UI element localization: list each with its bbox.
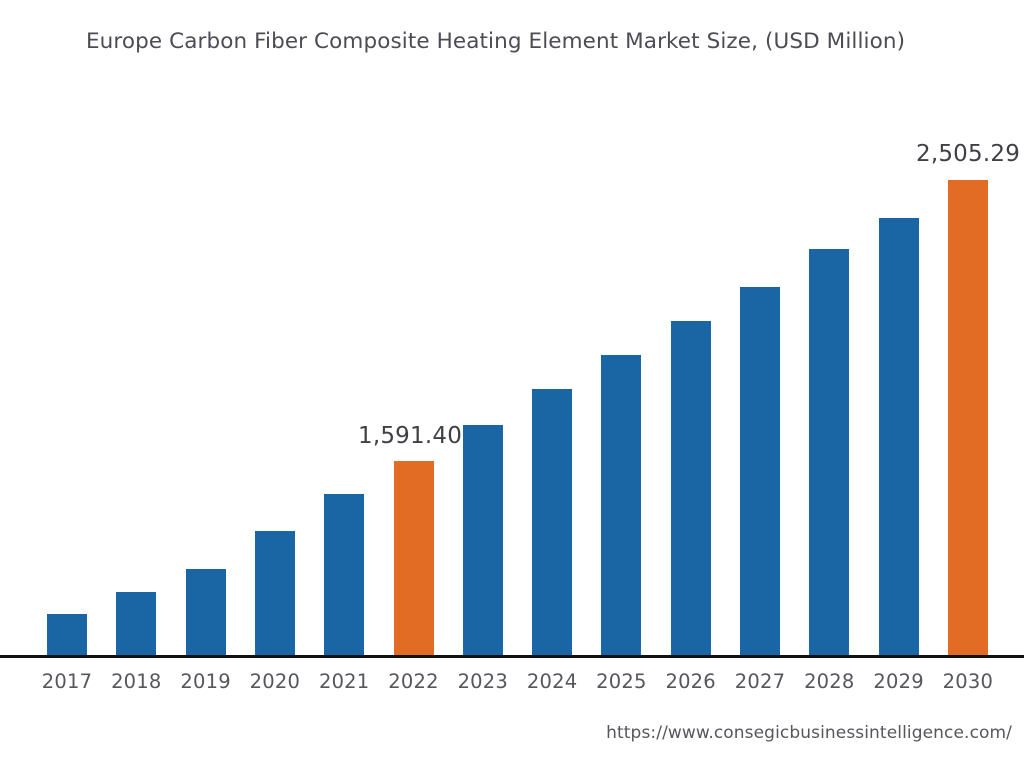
bar-2022[interactable] <box>394 461 434 656</box>
x-tick-label-2027: 2027 <box>725 669 795 695</box>
bar-2028[interactable] <box>809 249 849 656</box>
chart-container: Europe Carbon Fiber Composite Heating El… <box>0 0 1024 768</box>
bar-2027[interactable] <box>740 287 780 656</box>
x-tick-label-2026: 2026 <box>656 669 726 695</box>
bar-2020[interactable] <box>255 531 295 656</box>
bars-layer <box>0 0 1024 656</box>
bar-2023[interactable] <box>463 425 503 656</box>
bar-2021[interactable] <box>324 494 364 656</box>
x-tick-label-2021: 2021 <box>309 669 379 695</box>
x-tick-label-2029: 2029 <box>864 669 934 695</box>
bar-2030[interactable] <box>948 180 988 656</box>
x-tick-label-2019: 2019 <box>171 669 241 695</box>
x-tick-label-2020: 2020 <box>240 669 310 695</box>
x-axis-line <box>0 655 1024 658</box>
x-tick-label-2024: 2024 <box>517 669 587 695</box>
x-tick-label-2025: 2025 <box>586 669 656 695</box>
data-label-2022: 1,591.40 <box>358 422 462 450</box>
bar-2018[interactable] <box>116 592 156 656</box>
x-tick-label-2017: 2017 <box>32 669 102 695</box>
x-tick-label-2030: 2030 <box>933 669 1003 695</box>
plot-area <box>0 0 1024 658</box>
bar-2019[interactable] <box>186 569 226 656</box>
bar-2026[interactable] <box>671 321 711 656</box>
source-url: https://www.consegicbusinessintelligence… <box>606 722 1012 744</box>
x-tick-label-2028: 2028 <box>794 669 864 695</box>
x-tick-label-2018: 2018 <box>101 669 171 695</box>
bar-2017[interactable] <box>47 614 87 656</box>
data-label-2030: 2,505.29 <box>916 140 1020 168</box>
bar-2029[interactable] <box>879 218 919 656</box>
bar-2024[interactable] <box>532 389 572 656</box>
x-tick-label-2023: 2023 <box>448 669 518 695</box>
x-tick-label-2022: 2022 <box>379 669 449 695</box>
bar-2025[interactable] <box>601 355 641 656</box>
